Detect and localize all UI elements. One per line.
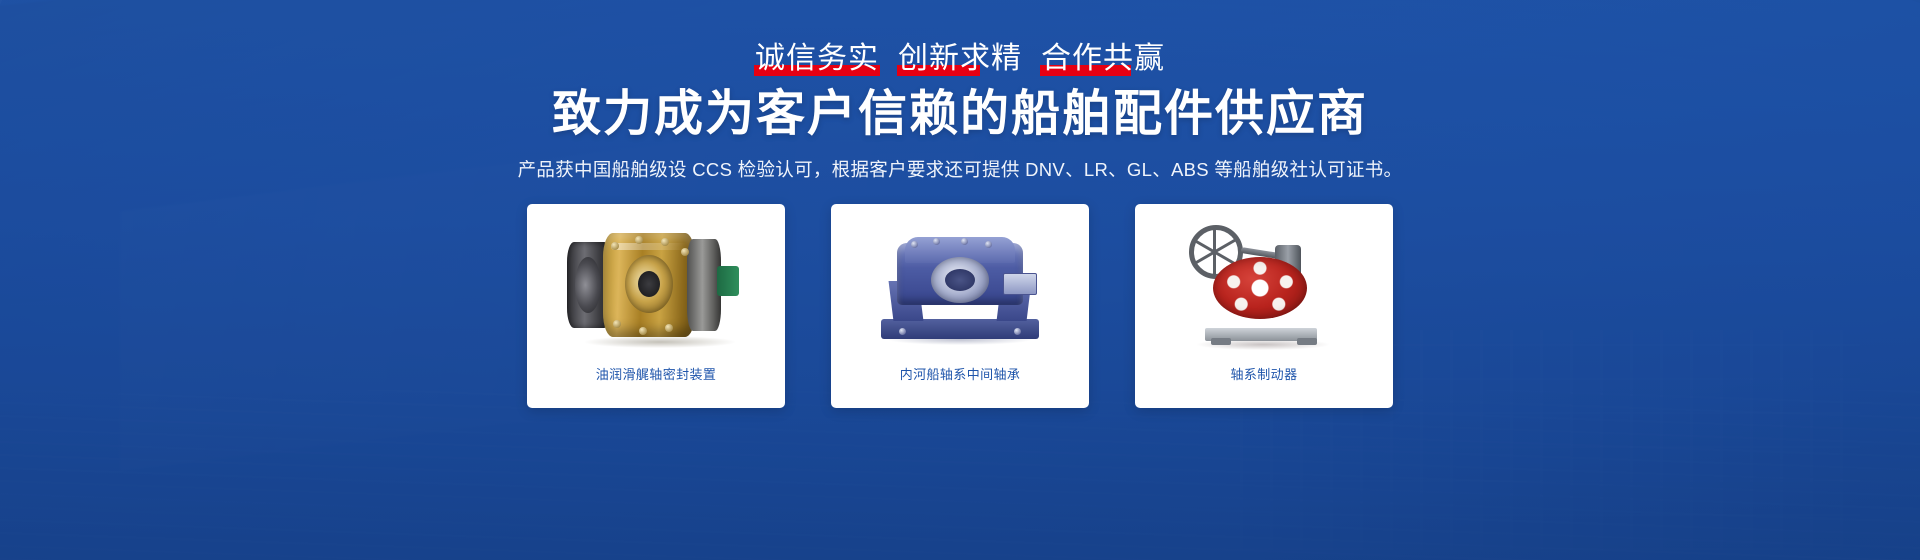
page-title: 致力成为客户信赖的船舶配件供应商 <box>552 87 1368 142</box>
product-image-2 <box>853 212 1067 358</box>
product-caption-3: 轴系制动器 <box>1230 364 1297 383</box>
banner-content: 诚信务实 创新求精 合作共赢 致力成为客户信赖的船舶配件供应商 产品获中国船舶级… <box>0 0 1920 560</box>
tagline-segment-3: 合作共赢 <box>1040 44 1166 74</box>
stern-tube-seal-illustration <box>561 226 751 344</box>
tagline-segment-2-label: 创新求精 <box>898 42 1022 75</box>
product-card-list: 油润滑艉轴密封装置 <box>527 204 1393 408</box>
tagline-segment-3-label: 合作共赢 <box>1041 42 1165 75</box>
tagline-segment-1: 诚信务实 <box>754 44 880 74</box>
tagline-segment-1-label: 诚信务实 <box>755 42 879 75</box>
product-image-3 <box>1157 212 1371 358</box>
hero-banner: 诚信务实 创新求精 合作共赢 致力成为客户信赖的船舶配件供应商 产品获中国船舶级… <box>0 0 1920 560</box>
product-caption-2: 内河船轴系中间轴承 <box>900 364 1021 383</box>
tagline-segment-2: 创新求精 <box>897 44 1023 74</box>
product-card-2[interactable]: 内河船轴系中间轴承 <box>831 204 1089 408</box>
intermediate-bearing-illustration <box>875 227 1045 343</box>
subtitle: 产品获中国船舶级设 CCS 检验认可，根据客户要求还可提供 DNV、LR、GL、… <box>518 156 1403 182</box>
product-card-3[interactable]: 轴系制动器 <box>1135 204 1393 408</box>
product-caption-1: 油润滑艉轴密封装置 <box>596 364 717 383</box>
tagline: 诚信务实 创新求精 合作共赢 <box>754 44 1166 74</box>
product-card-1[interactable]: 油润滑艉轴密封装置 <box>527 204 785 408</box>
product-image-1 <box>549 212 763 358</box>
shaft-brake-illustration <box>1179 223 1349 347</box>
